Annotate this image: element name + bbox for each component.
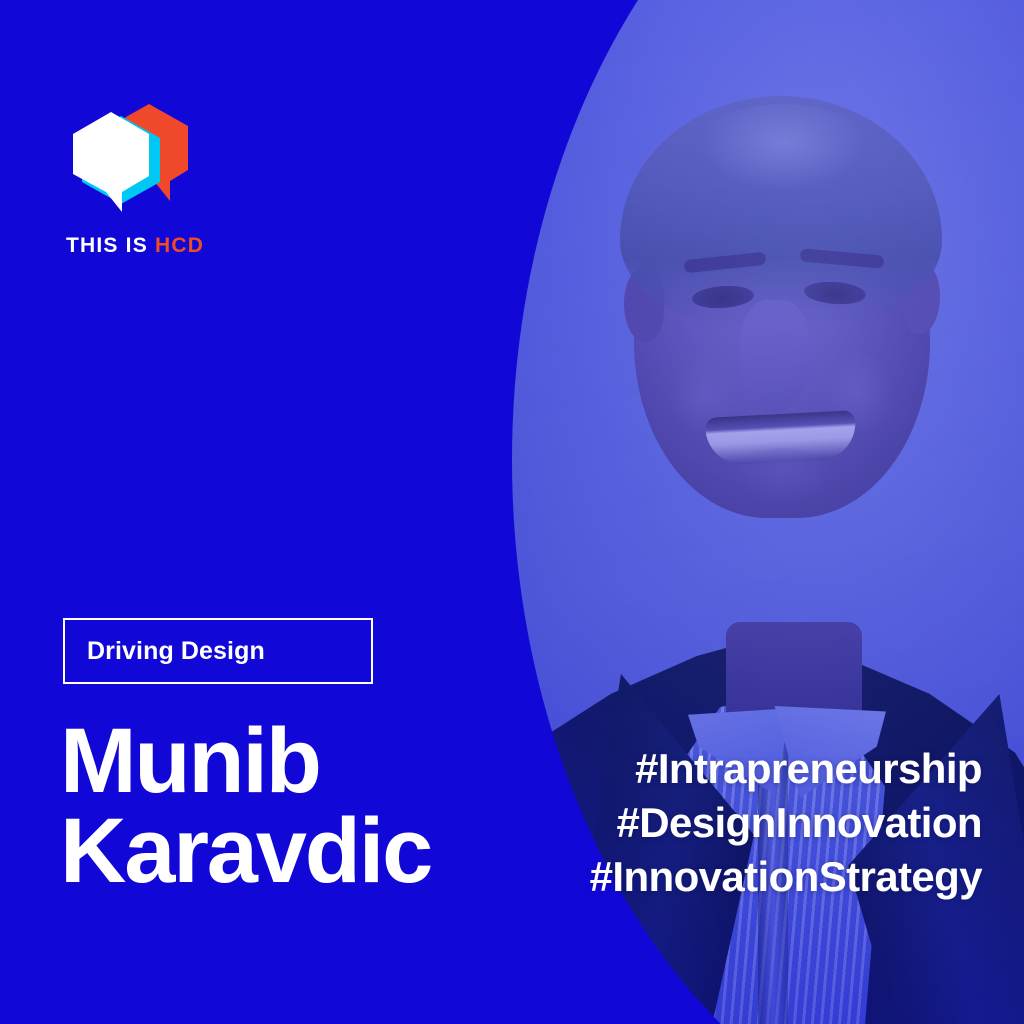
brand-wordmark: THIS IS HCD	[66, 235, 204, 256]
wordmark-hcd: HCD	[155, 234, 204, 257]
show-name-badge[interactable]: Driving Design	[63, 618, 373, 684]
podcast-episode-poster: THIS IS HCD Driving Design Munib Karavdi…	[0, 0, 1024, 1024]
guest-first-name: Munib	[60, 716, 520, 806]
show-name-label: Driving Design	[87, 639, 265, 664]
wordmark-this-is: THIS IS	[66, 234, 148, 257]
hashtag-list: #Intrapreneurship #DesignInnovation #Inn…	[590, 742, 982, 903]
hashtag-item[interactable]: #Intrapreneurship	[590, 742, 982, 796]
hashtag-item[interactable]: #DesignInnovation	[590, 796, 982, 850]
this-is-hcd-logo-icon[interactable]	[66, 100, 206, 220]
guest-last-name: Karavdic	[60, 806, 520, 896]
hashtag-item[interactable]: #InnovationStrategy	[590, 850, 982, 904]
guest-name: Munib Karavdic	[60, 716, 520, 896]
